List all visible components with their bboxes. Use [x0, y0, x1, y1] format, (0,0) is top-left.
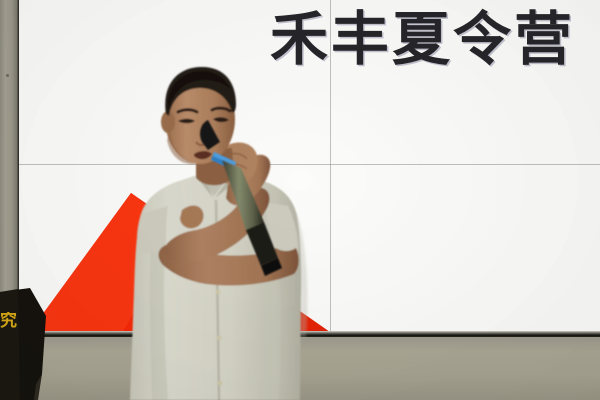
presentation-photo-scene: 禾丰夏令营: [0, 0, 600, 400]
presenter-figure: [0, 0, 600, 400]
banner-text: 究: [0, 312, 22, 334]
black-sign-banner: [0, 288, 52, 400]
